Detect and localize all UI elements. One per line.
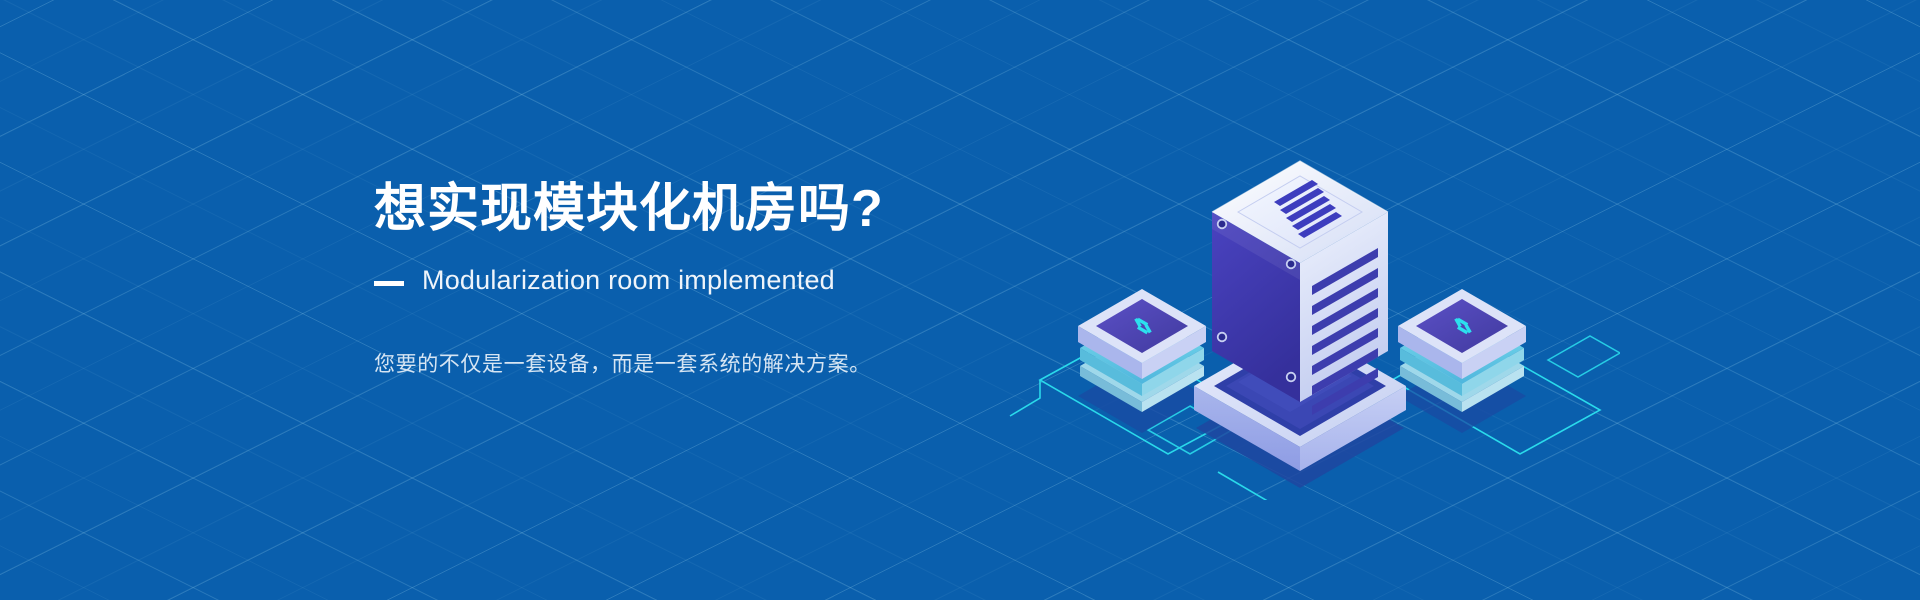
chip-module-right — [1398, 289, 1526, 433]
dash-marker-icon — [374, 281, 404, 286]
hero-banner: 想实现模块化机房吗? Modularization room implement… — [0, 0, 1920, 600]
banner-subtitle: Modularization room implemented — [422, 264, 835, 296]
server-rack — [1194, 161, 1406, 488]
floor-diamond-outline — [1548, 336, 1620, 377]
chip-module-left — [1078, 289, 1206, 433]
isometric-server-illustration — [1000, 80, 1620, 500]
